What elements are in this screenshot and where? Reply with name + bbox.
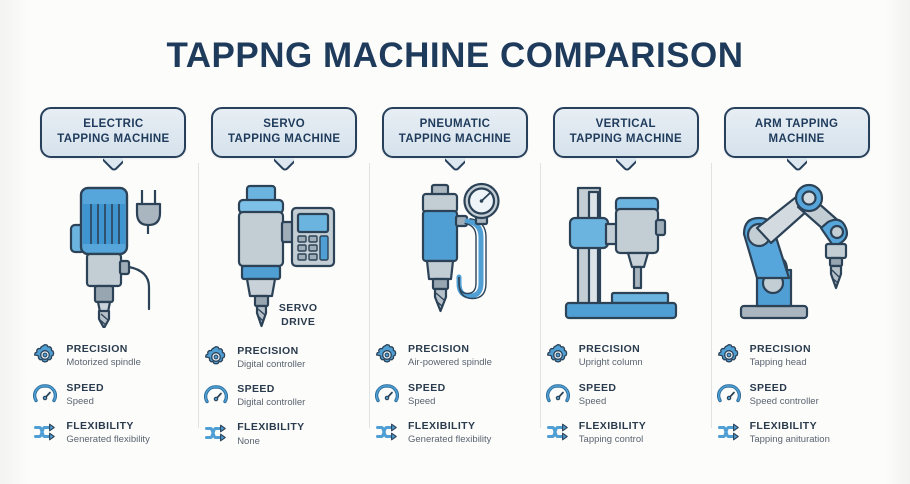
- feature-label: SPEED: [237, 383, 305, 395]
- shuffle-arrows-icon: [33, 420, 57, 444]
- feature-label: FLEXIBILITY: [750, 420, 830, 432]
- header-line-1: PNEUMATIC: [390, 117, 520, 132]
- feature-row: PRECISION Tapping head: [717, 342, 877, 369]
- infographic-page: TAPPNG MACHINE COMPARISON ELECTRIC TAPPI…: [0, 0, 910, 484]
- column-servo: SERVO TAPPING MACHINE: [199, 105, 370, 450]
- header-line-1: SERVO: [219, 117, 349, 132]
- feature-value: Motorized spindle: [66, 357, 140, 369]
- feature-value: Digital controller: [237, 397, 305, 409]
- feature-text: FLEXIBILITY Tapping control: [579, 419, 646, 446]
- feature-value: Speed: [66, 396, 104, 408]
- shuffle-arrows-icon: [546, 420, 570, 444]
- feature-label: PRECISION: [408, 343, 492, 355]
- feature-value: Tapping anituration: [750, 434, 830, 446]
- feature-label: SPEED: [750, 382, 819, 394]
- header-text-vertical: VERTICAL TAPPING MACHINE: [553, 107, 699, 158]
- column-electric: ELECTRIC TAPPING MACHINE: [28, 105, 199, 450]
- feature-list-vertical: PRECISION Upright column SPE: [546, 342, 706, 446]
- feature-text: SPEED Speed: [66, 381, 104, 408]
- electric-tapping-machine-illustration: [43, 178, 183, 328]
- feature-list-pneumatic: PRECISION Air-powered spindle: [375, 342, 535, 446]
- feature-value: Speed: [579, 396, 617, 408]
- header-bubble-arm[interactable]: ARM TAPPING MACHINE: [724, 107, 870, 158]
- header-line-2: MACHINE: [732, 132, 862, 147]
- feature-value: Generated flexibility: [66, 434, 149, 446]
- feature-text: SPEED Digital controller: [237, 382, 305, 409]
- feature-value: Generated flexibility: [408, 434, 491, 446]
- header-pointer-icon: [445, 158, 465, 171]
- pneumatic-tapping-machine-illustration: [385, 178, 525, 328]
- header-line-2: TAPPING MACHINE: [48, 132, 178, 147]
- feature-label: FLEXIBILITY: [408, 420, 491, 432]
- shuffle-arrows-icon: [375, 420, 399, 444]
- feature-text: FLEXIBILITY Tapping anituration: [750, 419, 830, 446]
- feature-row: FLEXIBILITY Tapping control: [546, 419, 706, 446]
- feature-text: PRECISION Digital controller: [237, 344, 305, 371]
- feature-value: Tapping head: [750, 357, 811, 369]
- header-pointer-icon: [616, 158, 636, 171]
- feature-row: FLEXIBILITY Generated flexibility: [33, 419, 193, 446]
- feature-value: Speed: [408, 396, 446, 408]
- header-line-1: VERTICAL: [561, 117, 691, 132]
- gear-icon: [33, 343, 57, 367]
- header-line-2: TAPPING MACHINE: [219, 132, 349, 147]
- feature-row: FLEXIBILITY None: [204, 420, 364, 447]
- feature-list-servo: PRECISION Digital controller: [204, 344, 364, 448]
- feature-list-arm: PRECISION Tapping head SPEED: [717, 342, 877, 446]
- gear-icon: [717, 343, 741, 367]
- page-title: TAPPNG MACHINE COMPARISON: [0, 36, 910, 76]
- comparison-columns: ELECTRIC TAPPING MACHINE: [28, 105, 882, 450]
- feature-row: PRECISION Upright column: [546, 342, 706, 369]
- vertical-tapping-machine-illustration: [556, 178, 696, 328]
- feature-text: FLEXIBILITY Generated flexibility: [408, 419, 491, 446]
- feature-text: PRECISION Upright column: [579, 342, 643, 369]
- feature-label: FLEXIBILITY: [579, 420, 646, 432]
- header-bubble-vertical[interactable]: VERTICAL TAPPING MACHINE: [553, 107, 699, 158]
- header-bubble-servo[interactable]: SERVO TAPPING MACHINE: [211, 107, 357, 158]
- gauge-icon: [204, 383, 228, 407]
- feature-label: PRECISION: [66, 343, 140, 355]
- header-line-1: ELECTRIC: [48, 117, 178, 132]
- feature-text: PRECISION Tapping head: [750, 342, 811, 369]
- feature-text: PRECISION Air-powered spindle: [408, 342, 492, 369]
- shuffle-arrows-icon: [717, 420, 741, 444]
- feature-value: Air-powered spindle: [408, 357, 492, 369]
- shuffle-arrows-icon: [204, 421, 228, 445]
- feature-label: FLEXIBILITY: [66, 420, 149, 432]
- feature-text: PRECISION Motorized spindle: [66, 342, 140, 369]
- servo-drive-line-2: DRIVE: [279, 316, 318, 330]
- feature-row: SPEED Speed: [375, 381, 535, 408]
- gauge-icon: [546, 382, 570, 406]
- header-bubble-electric[interactable]: ELECTRIC TAPPING MACHINE: [40, 107, 186, 158]
- feature-label: PRECISION: [579, 343, 643, 355]
- feature-label: SPEED: [579, 382, 617, 394]
- feature-text: SPEED Speed controller: [750, 381, 819, 408]
- feature-label: PRECISION: [237, 345, 305, 357]
- feature-value: None: [237, 436, 304, 448]
- header-line-2: TAPPING MACHINE: [561, 132, 691, 147]
- feature-row: SPEED Speed: [33, 381, 193, 408]
- feature-label: FLEXIBILITY: [237, 421, 304, 433]
- servo-drive-line-1: SERVO: [279, 302, 318, 316]
- header-text-arm: ARM TAPPING MACHINE: [724, 107, 870, 158]
- header-text-electric: ELECTRIC TAPPING MACHINE: [40, 107, 186, 158]
- feature-list-electric: PRECISION Motorized spindle: [33, 342, 193, 446]
- feature-value: Speed controller: [750, 396, 819, 408]
- gear-icon: [204, 345, 228, 369]
- gauge-icon: [33, 382, 57, 406]
- column-arm: ARM TAPPING MACHINE: [711, 105, 882, 450]
- header-line-1: ARM TAPPING: [732, 117, 862, 132]
- column-pneumatic: PNEUMATIC TAPPING MACHINE: [370, 105, 541, 450]
- feature-row: FLEXIBILITY Tapping anituration: [717, 419, 877, 446]
- header-text-pneumatic: PNEUMATIC TAPPING MACHINE: [382, 107, 528, 158]
- header-pointer-icon: [274, 158, 294, 171]
- feature-label: SPEED: [408, 382, 446, 394]
- header-bubble-pneumatic[interactable]: PNEUMATIC TAPPING MACHINE: [382, 107, 528, 158]
- column-vertical: VERTICAL TAPPING MACHINE: [540, 105, 711, 450]
- arm-tapping-machine-illustration: [727, 178, 867, 328]
- feature-label: PRECISION: [750, 343, 811, 355]
- header-line-2: TAPPING MACHINE: [390, 132, 520, 147]
- feature-text: FLEXIBILITY Generated flexibility: [66, 419, 149, 446]
- feature-row: SPEED Digital controller: [204, 382, 364, 409]
- feature-label: SPEED: [66, 382, 104, 394]
- feature-text: FLEXIBILITY None: [237, 420, 304, 447]
- feature-row: SPEED Speed: [546, 381, 706, 408]
- feature-text: SPEED Speed: [579, 381, 617, 408]
- feature-row: SPEED Speed controller: [717, 381, 877, 408]
- feature-row: PRECISION Digital controller: [204, 344, 364, 371]
- feature-text: SPEED Speed: [408, 381, 446, 408]
- feature-value: Upright column: [579, 357, 643, 369]
- feature-row: PRECISION Air-powered spindle: [375, 342, 535, 369]
- gauge-icon: [375, 382, 399, 406]
- servo-drive-label: SERVO DRIVE: [279, 302, 318, 329]
- header-pointer-icon: [103, 158, 123, 171]
- gear-icon: [546, 343, 570, 367]
- feature-row: FLEXIBILITY Generated flexibility: [375, 419, 535, 446]
- feature-value: Tapping control: [579, 434, 646, 446]
- header-text-servo: SERVO TAPPING MACHINE: [211, 107, 357, 158]
- gauge-icon: [717, 382, 741, 406]
- gear-icon: [375, 343, 399, 367]
- header-pointer-icon: [787, 158, 807, 171]
- feature-row: PRECISION Motorized spindle: [33, 342, 193, 369]
- feature-value: Digital controller: [237, 359, 305, 371]
